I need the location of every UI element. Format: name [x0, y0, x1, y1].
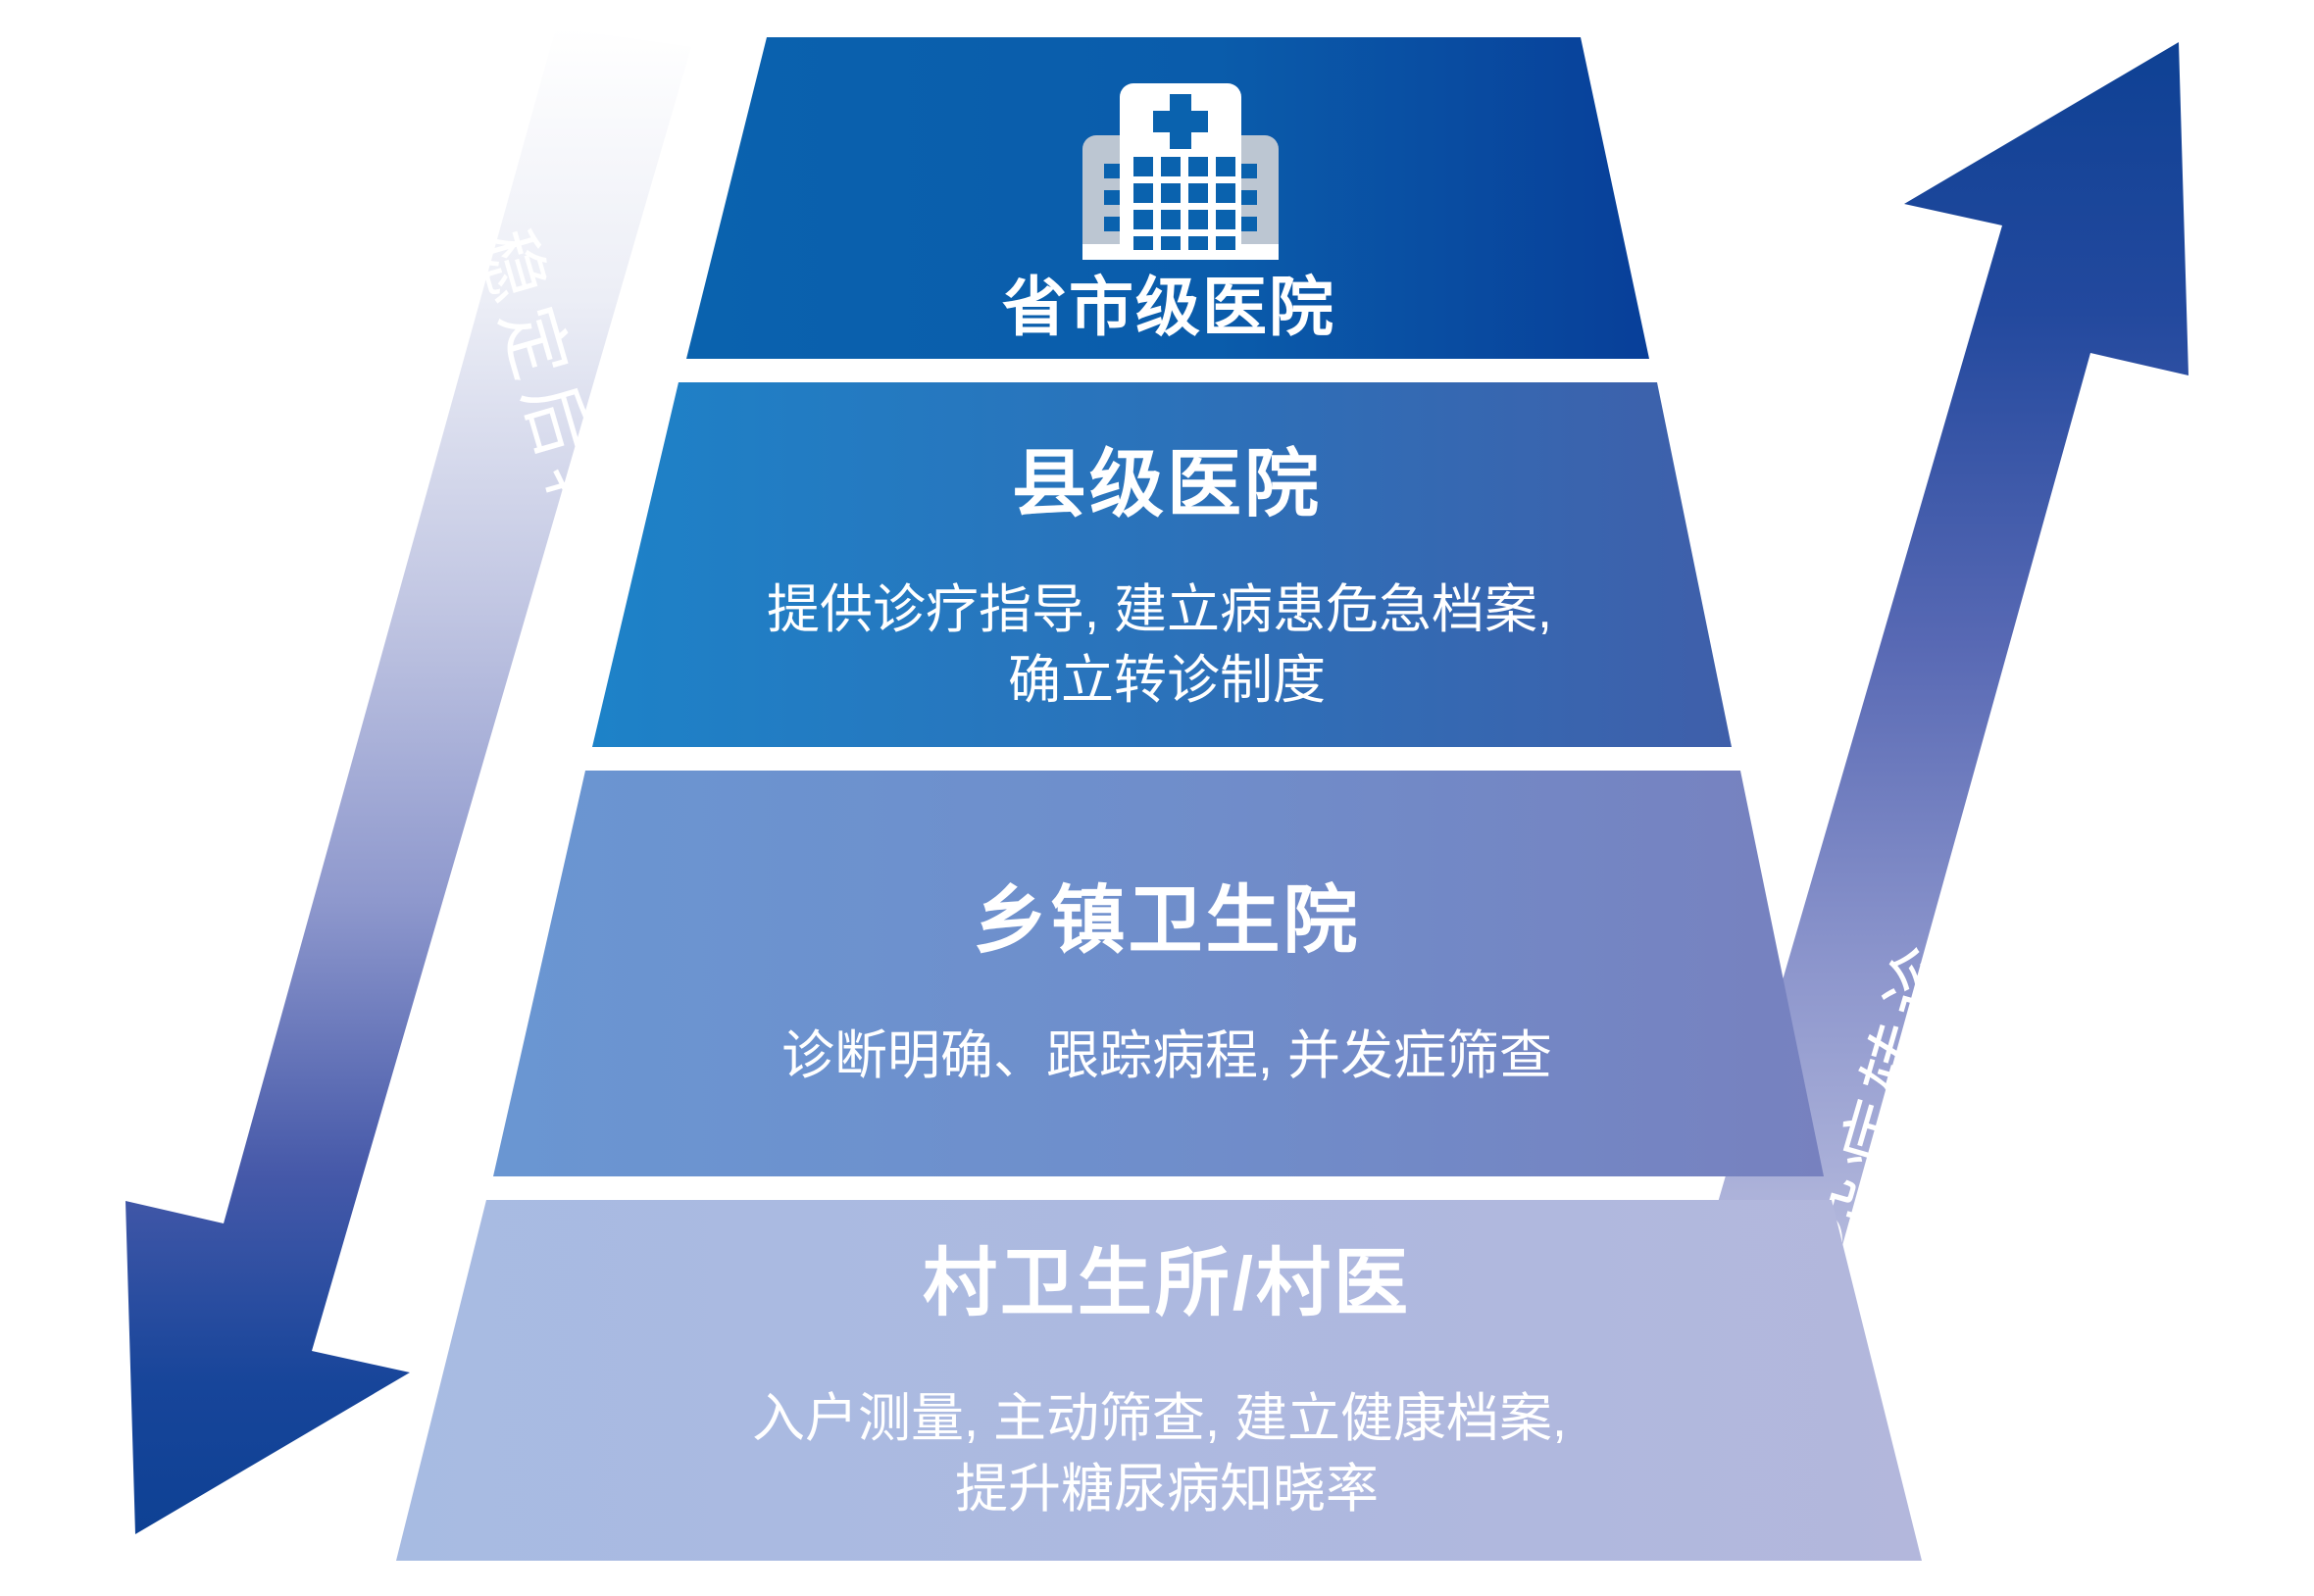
tier-title-township: 乡镇卫生院	[974, 879, 1361, 963]
tier-desc-township: 诊断明确、跟踪病程, 并发症筛查	[781, 1026, 1552, 1085]
pyramid-diagram: 病情缓和，稳定后转诊 危急重症，疑难杂症转诊	[0, 0, 2314, 1596]
tier-county[interactable]: 县级医院 提供诊疗指导, 建立病患危急档案, 确立转诊制度	[592, 382, 1732, 747]
diagram-canvas: 病情缓和，稳定后转诊 危急重症，疑难杂症转诊	[0, 0, 2314, 1596]
tier-title-provincial-city: 省市级医院	[1002, 271, 1335, 343]
tier-title-county: 县级医院	[1012, 443, 1322, 526]
tier-village[interactable]: 村卫生所/村医 入户测量, 主动筛查, 建立健康档案, 提升糖尿病知晓率	[396, 1200, 1922, 1561]
tier-provincial-city[interactable]: 省市级医院	[686, 37, 1649, 359]
tier-title-village: 村卫生所/村医	[923, 1242, 1411, 1325]
tier-township[interactable]: 乡镇卫生院 诊断明确、跟踪病程, 并发症筛查	[493, 771, 1824, 1176]
